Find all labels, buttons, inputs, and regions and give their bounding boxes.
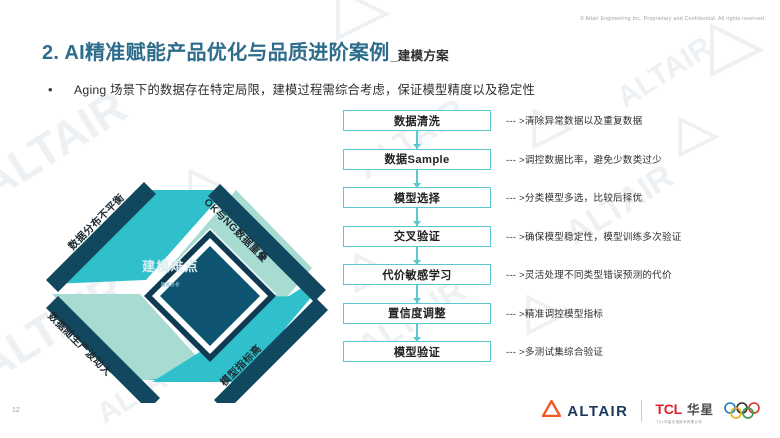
diagram-center: 建模难点 难点分析 [108,256,233,288]
logo-divider [641,400,642,422]
watermark-triangle [706,22,766,78]
altair-logo: ALTAIR [542,400,628,422]
bullet-marker-icon: • [46,81,74,99]
flow-box-cost-sensitive-learning[interactable]: 代价敏感学习 [343,264,491,285]
flow-arrow-icon [416,285,418,303]
page-title: 2. AI精准赋能产品优化与品质进阶案例_建模方案 [42,36,449,65]
olympic-rings-icon [722,402,764,420]
flow-step: 置信度调整 --- >精准调控模型指标 [343,303,773,342]
altair-triangle-icon [542,400,561,422]
diagram-center-title: 建模难点 [108,256,233,275]
flow-step: 代价敏感学习 --- >灵活处理不同类型错误预测的代价 [343,264,773,303]
tcl-chinese-name: 华星 [687,399,714,418]
flow-note-model-validation: --- >多测试集综合验证 [506,344,603,358]
flow-arrow-icon [416,208,418,226]
modeling-flowchart: 数据清洗 --- >清除异常数据以及重复数据 数据Sample --- >调控数… [343,110,773,380]
tcl-wordmark: TCL [655,401,682,417]
page-title-sub: _建模方案 [391,45,449,66]
watermark-text: ALTAIR [611,31,719,116]
bullet-text: Aging 场景下的数据存在特定局限，建模过程需综合考虑，保证模型精度以及稳定性 [74,81,535,99]
flow-box-cross-validation[interactable]: 交叉验证 [343,226,491,247]
tcl-wordmark-block: TCL 华星 TCL华星光电技术有限公司 [655,399,714,424]
tcl-logo: TCL 华星 TCL华星光电技术有限公司 [655,399,764,424]
flow-step: 数据清洗 --- >清除异常数据以及重复数据 [343,110,773,149]
flow-box-data-sample[interactable]: 数据Sample [343,149,491,170]
diagram-center-subtitle: 难点分析 [108,282,233,288]
flow-step: 交叉验证 --- >确保模型稳定性，模型训练多次验证 [343,226,773,265]
flow-note-confidence-adjustment: --- >精准调控模型指标 [506,306,603,320]
flow-arrow-icon [416,247,418,265]
flow-arrow-icon [416,324,418,342]
flow-box-data-cleaning[interactable]: 数据清洗 [343,110,491,131]
flow-box-model-validation[interactable]: 模型验证 [343,341,491,362]
page-number: 12 [12,407,20,414]
flow-note-data-sample: --- >调控数据比率，避免少数类过少 [506,152,662,166]
flow-arrow-icon [416,170,418,188]
flow-step: 数据Sample --- >调控数据比率，避免少数类过少 [343,149,773,188]
flow-box-model-selection[interactable]: 模型选择 [343,187,491,208]
flow-step: 模型验证 --- >多测试集综合验证 [343,341,773,380]
footer-logos: ALTAIR TCL 华星 TCL华星光电技术有限公司 [542,396,764,426]
page-title-main: 2. AI精准赋能产品优化与品质进阶案例 [42,36,390,65]
flow-box-confidence-adjustment[interactable]: 置信度调整 [343,303,491,324]
tcl-tagline: TCL华星光电技术有限公司 [656,419,702,424]
flow-note-model-selection: --- >分类模型多选，比较后择优 [506,190,642,204]
flow-note-cross-validation: --- >确保模型稳定性，模型训练多次验证 [506,229,682,243]
flow-step: 模型选择 --- >分类模型多选，比较后择优 [343,187,773,226]
copyright-notice: © Altair Engineering Inc. Proprietary an… [580,16,766,22]
slide-canvas: ALTAIR ALTAIR ALTAIR ALTAIR ALTAIR ALTAI… [0,0,780,438]
altair-wordmark: ALTAIR [567,403,628,420]
bullet-item: • Aging 场景下的数据存在特定局限，建模过程需综合考虑，保证模型精度以及稳… [46,81,706,99]
flow-note-cost-sensitive-learning: --- >灵活处理不同类型错误预测的代价 [506,267,672,281]
flow-arrow-icon [416,131,418,149]
flow-note-data-cleaning: --- >清除异常数据以及重复数据 [506,113,642,127]
